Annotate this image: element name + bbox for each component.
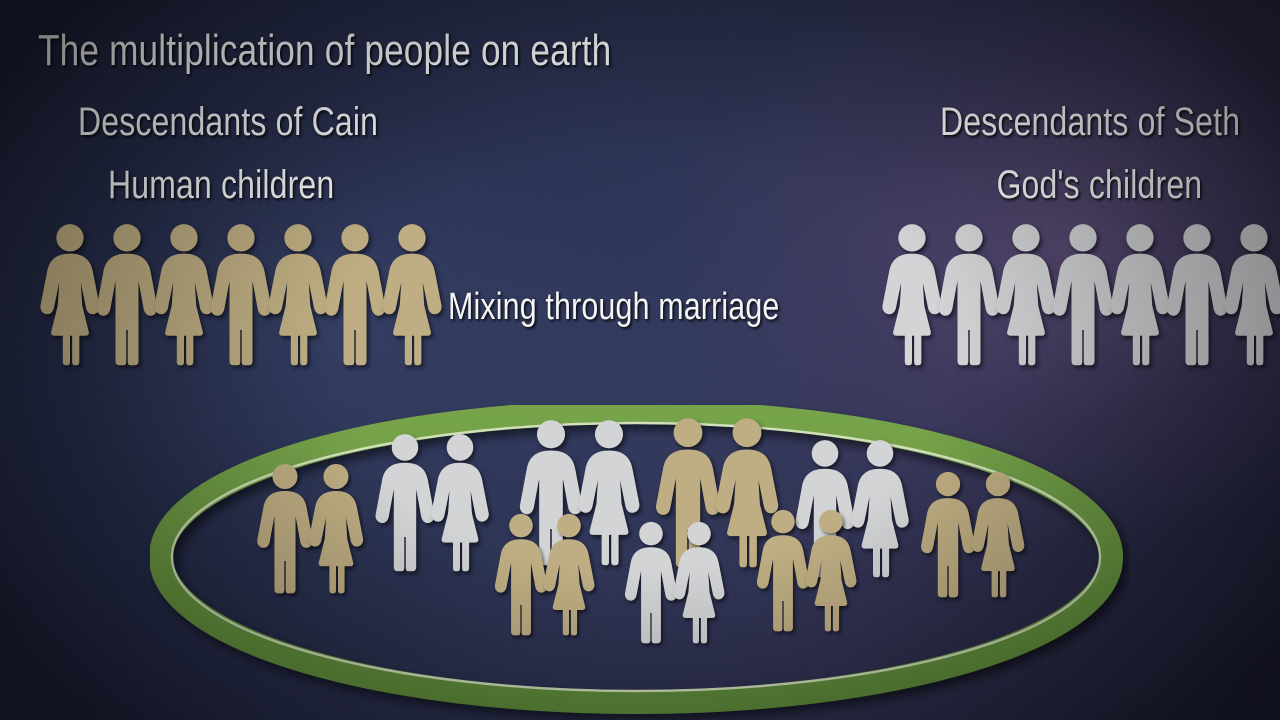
female-person-icon	[538, 512, 600, 636]
female-person-icon	[800, 508, 862, 632]
slide-canvas: The multiplication of people on earth De…	[0, 0, 1280, 720]
group-mixed-front-row	[0, 0, 1280, 720]
female-person-icon	[668, 520, 730, 644]
